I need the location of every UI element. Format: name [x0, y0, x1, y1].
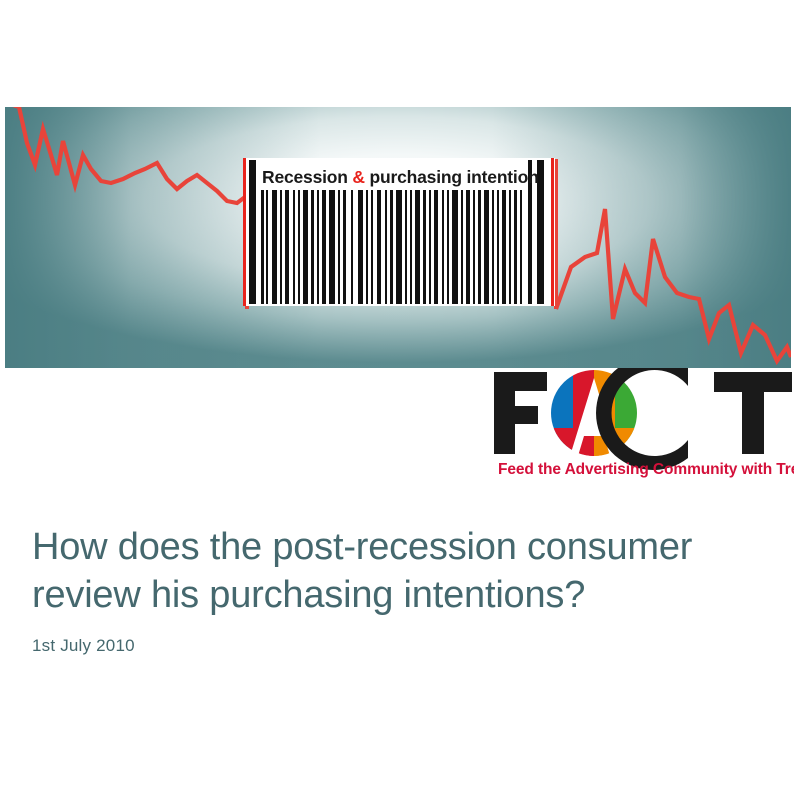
page-title-line-2: review his purchasing intentions? [32, 571, 762, 619]
fact-logo: Feed the Advertising Community with Tren… [492, 368, 794, 480]
barcode-caption-before: Recession [262, 167, 352, 187]
logo-letter-t [714, 372, 792, 454]
slide-root: Recession & purchasing intention [0, 0, 800, 800]
logo-tagline: Feed the Advertising Community with Tren… [498, 461, 794, 478]
page-title: How does the post-recession consumer rev… [32, 523, 762, 619]
title-block: How does the post-recession consumer rev… [32, 523, 762, 657]
page-title-line-1: How does the post-recession consumer [32, 523, 762, 571]
barcode-caption-after: purchasing intention [365, 167, 539, 187]
logo-a-base-mask [570, 456, 618, 460]
fact-logo-svg: Feed the Advertising Community with Tren… [492, 368, 794, 480]
barcode-caption-ampersand: & [352, 167, 364, 187]
barcode-left-edge-line [243, 158, 246, 306]
slide-date: 1st July 2010 [32, 635, 762, 657]
barcode-caption: Recession & purchasing intention [262, 165, 547, 190]
barcode-guard-left [249, 160, 256, 304]
barcode-right-edge-line [551, 158, 554, 306]
logo-letter-f [494, 372, 547, 454]
